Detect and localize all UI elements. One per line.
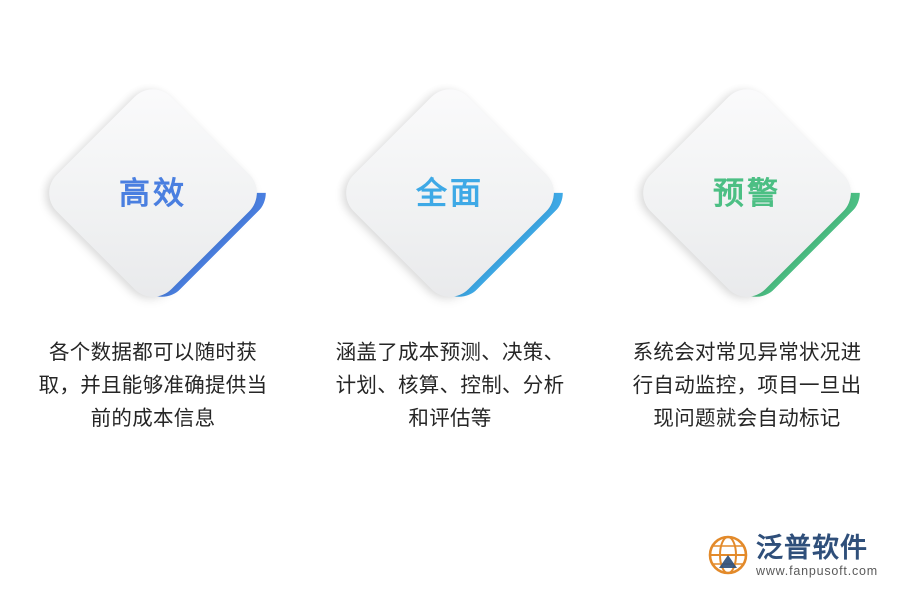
feature-caption-3: 系统会对常见异常状况进行自动监控，项目一旦出现问题就会自动标记 <box>623 336 871 436</box>
feature-column-3: 预警 系统会对常见异常状况进行自动监控，项目一旦出现问题就会自动标记 <box>604 0 890 520</box>
diamond-badge-3: 预警 <box>632 78 862 308</box>
diamond-label-2: 全面 <box>416 178 484 209</box>
diamond-badge-1: 高效 <box>38 78 268 308</box>
feature-column-1: 高效 各个数据都可以随时获取，并且能够准确提供当前的成本信息 <box>10 0 296 520</box>
feature-columns: 高效 各个数据都可以随时获取，并且能够准确提供当前的成本信息 全面 涵盖了成本预… <box>0 0 900 520</box>
feature-caption-2: 涵盖了成本预测、决策、计划、核算、控制、分析和评估等 <box>326 336 574 436</box>
diamond-badge-2: 全面 <box>335 78 565 308</box>
logo-website-url: www.fanpusoft.com <box>756 564 878 578</box>
logo-text-block: 泛普软件 www.fanpusoft.com <box>756 534 878 578</box>
logo-company-name: 泛普软件 <box>756 534 878 562</box>
diamond-label-1: 高效 <box>119 178 187 209</box>
globe-logo-mark-icon <box>707 534 749 576</box>
feature-caption-1: 各个数据都可以随时获取，并且能够准确提供当前的成本信息 <box>29 336 277 436</box>
feature-column-2: 全面 涵盖了成本预测、决策、计划、核算、控制、分析和评估等 <box>307 0 593 520</box>
infographic-page: 高效 各个数据都可以随时获取，并且能够准确提供当前的成本信息 全面 涵盖了成本预… <box>0 0 900 600</box>
company-logo: 泛普软件 www.fanpusoft.com <box>707 534 878 578</box>
diamond-label-3: 预警 <box>713 178 781 209</box>
